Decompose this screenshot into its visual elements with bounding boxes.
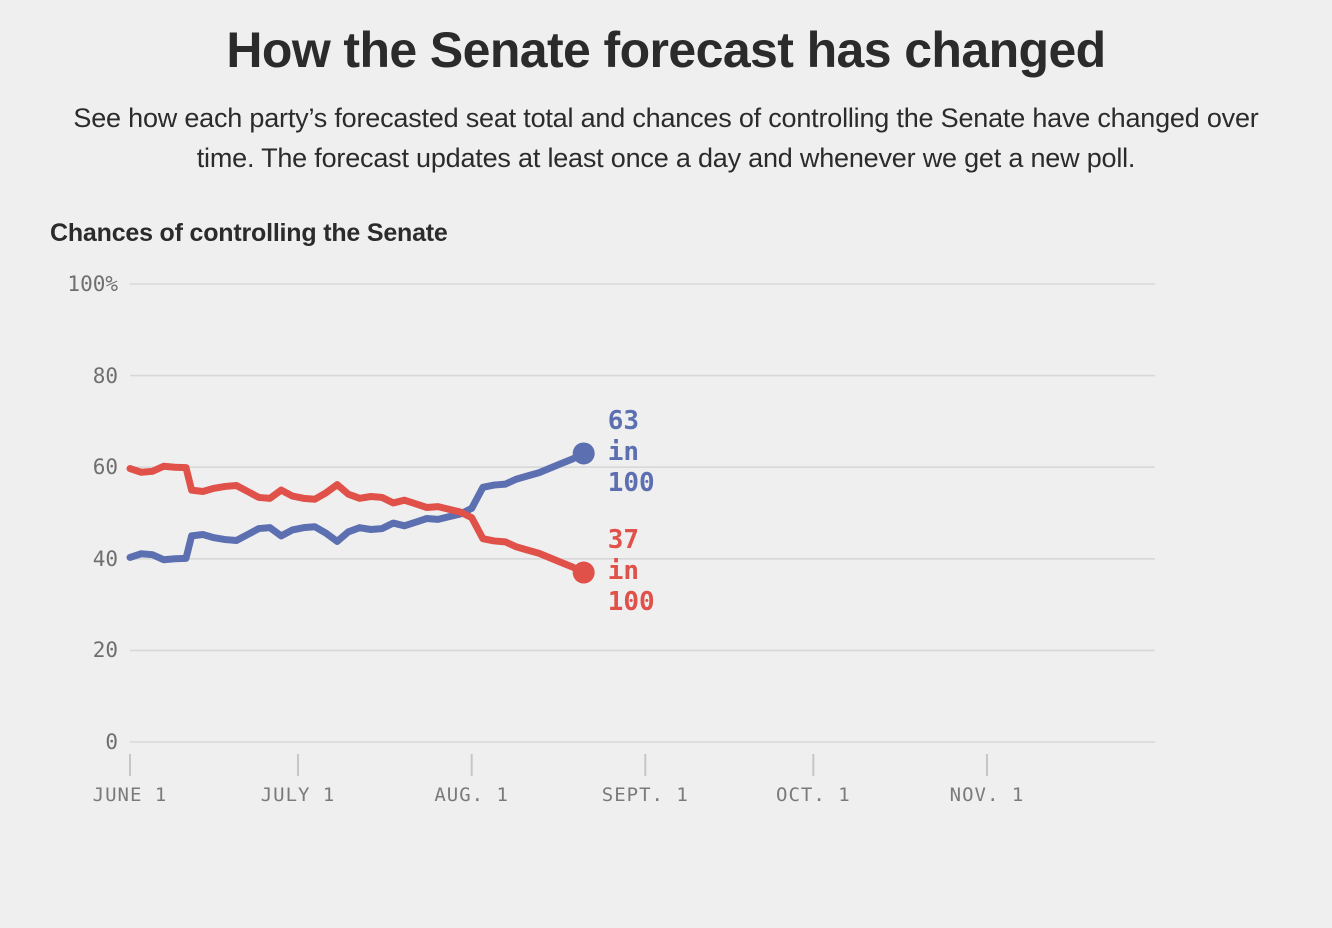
page-title: How the Senate forecast has changed	[0, 24, 1332, 77]
chart-block: Chances of controlling the Senate 020406…	[0, 219, 1332, 830]
x-axis-tick-label: JULY 1	[261, 784, 336, 806]
callout-republican: 37 in 100	[608, 525, 655, 617]
callout-republican-hundred: 100	[608, 587, 655, 618]
x-axis-tick-label: NOV. 1	[950, 784, 1025, 806]
x-axis-tick-label: OCT. 1	[776, 784, 851, 806]
chart-area: 020406080100% JUNE 1JULY 1AUG. 1SEPT. 1O…	[0, 270, 1332, 830]
x-axis-tick-label: AUG. 1	[434, 784, 509, 806]
callout-republican-number: 37	[608, 525, 655, 556]
page-header: How the Senate forecast has changed See …	[0, 0, 1332, 179]
chart-title: Chances of controlling the Senate	[50, 219, 1332, 248]
x-axis-tick-label: JUNE 1	[93, 784, 168, 806]
page-subtitle: See how each party’s forecasted seat tot…	[48, 99, 1284, 179]
callout-democrat-in: in	[608, 437, 655, 468]
callout-democrat-number: 63	[608, 406, 655, 437]
callout-democrat: 63 in 100	[608, 406, 655, 498]
forecast-page: How the Senate forecast has changed See …	[0, 0, 1332, 928]
x-axis-tick-label: SEPT. 1	[602, 784, 689, 806]
callout-democrat-hundred: 100	[608, 468, 655, 499]
callout-republican-in: in	[608, 556, 655, 587]
x-axis-labels: JUNE 1JULY 1AUG. 1SEPT. 1OCT. 1NOV. 1	[0, 270, 1332, 830]
